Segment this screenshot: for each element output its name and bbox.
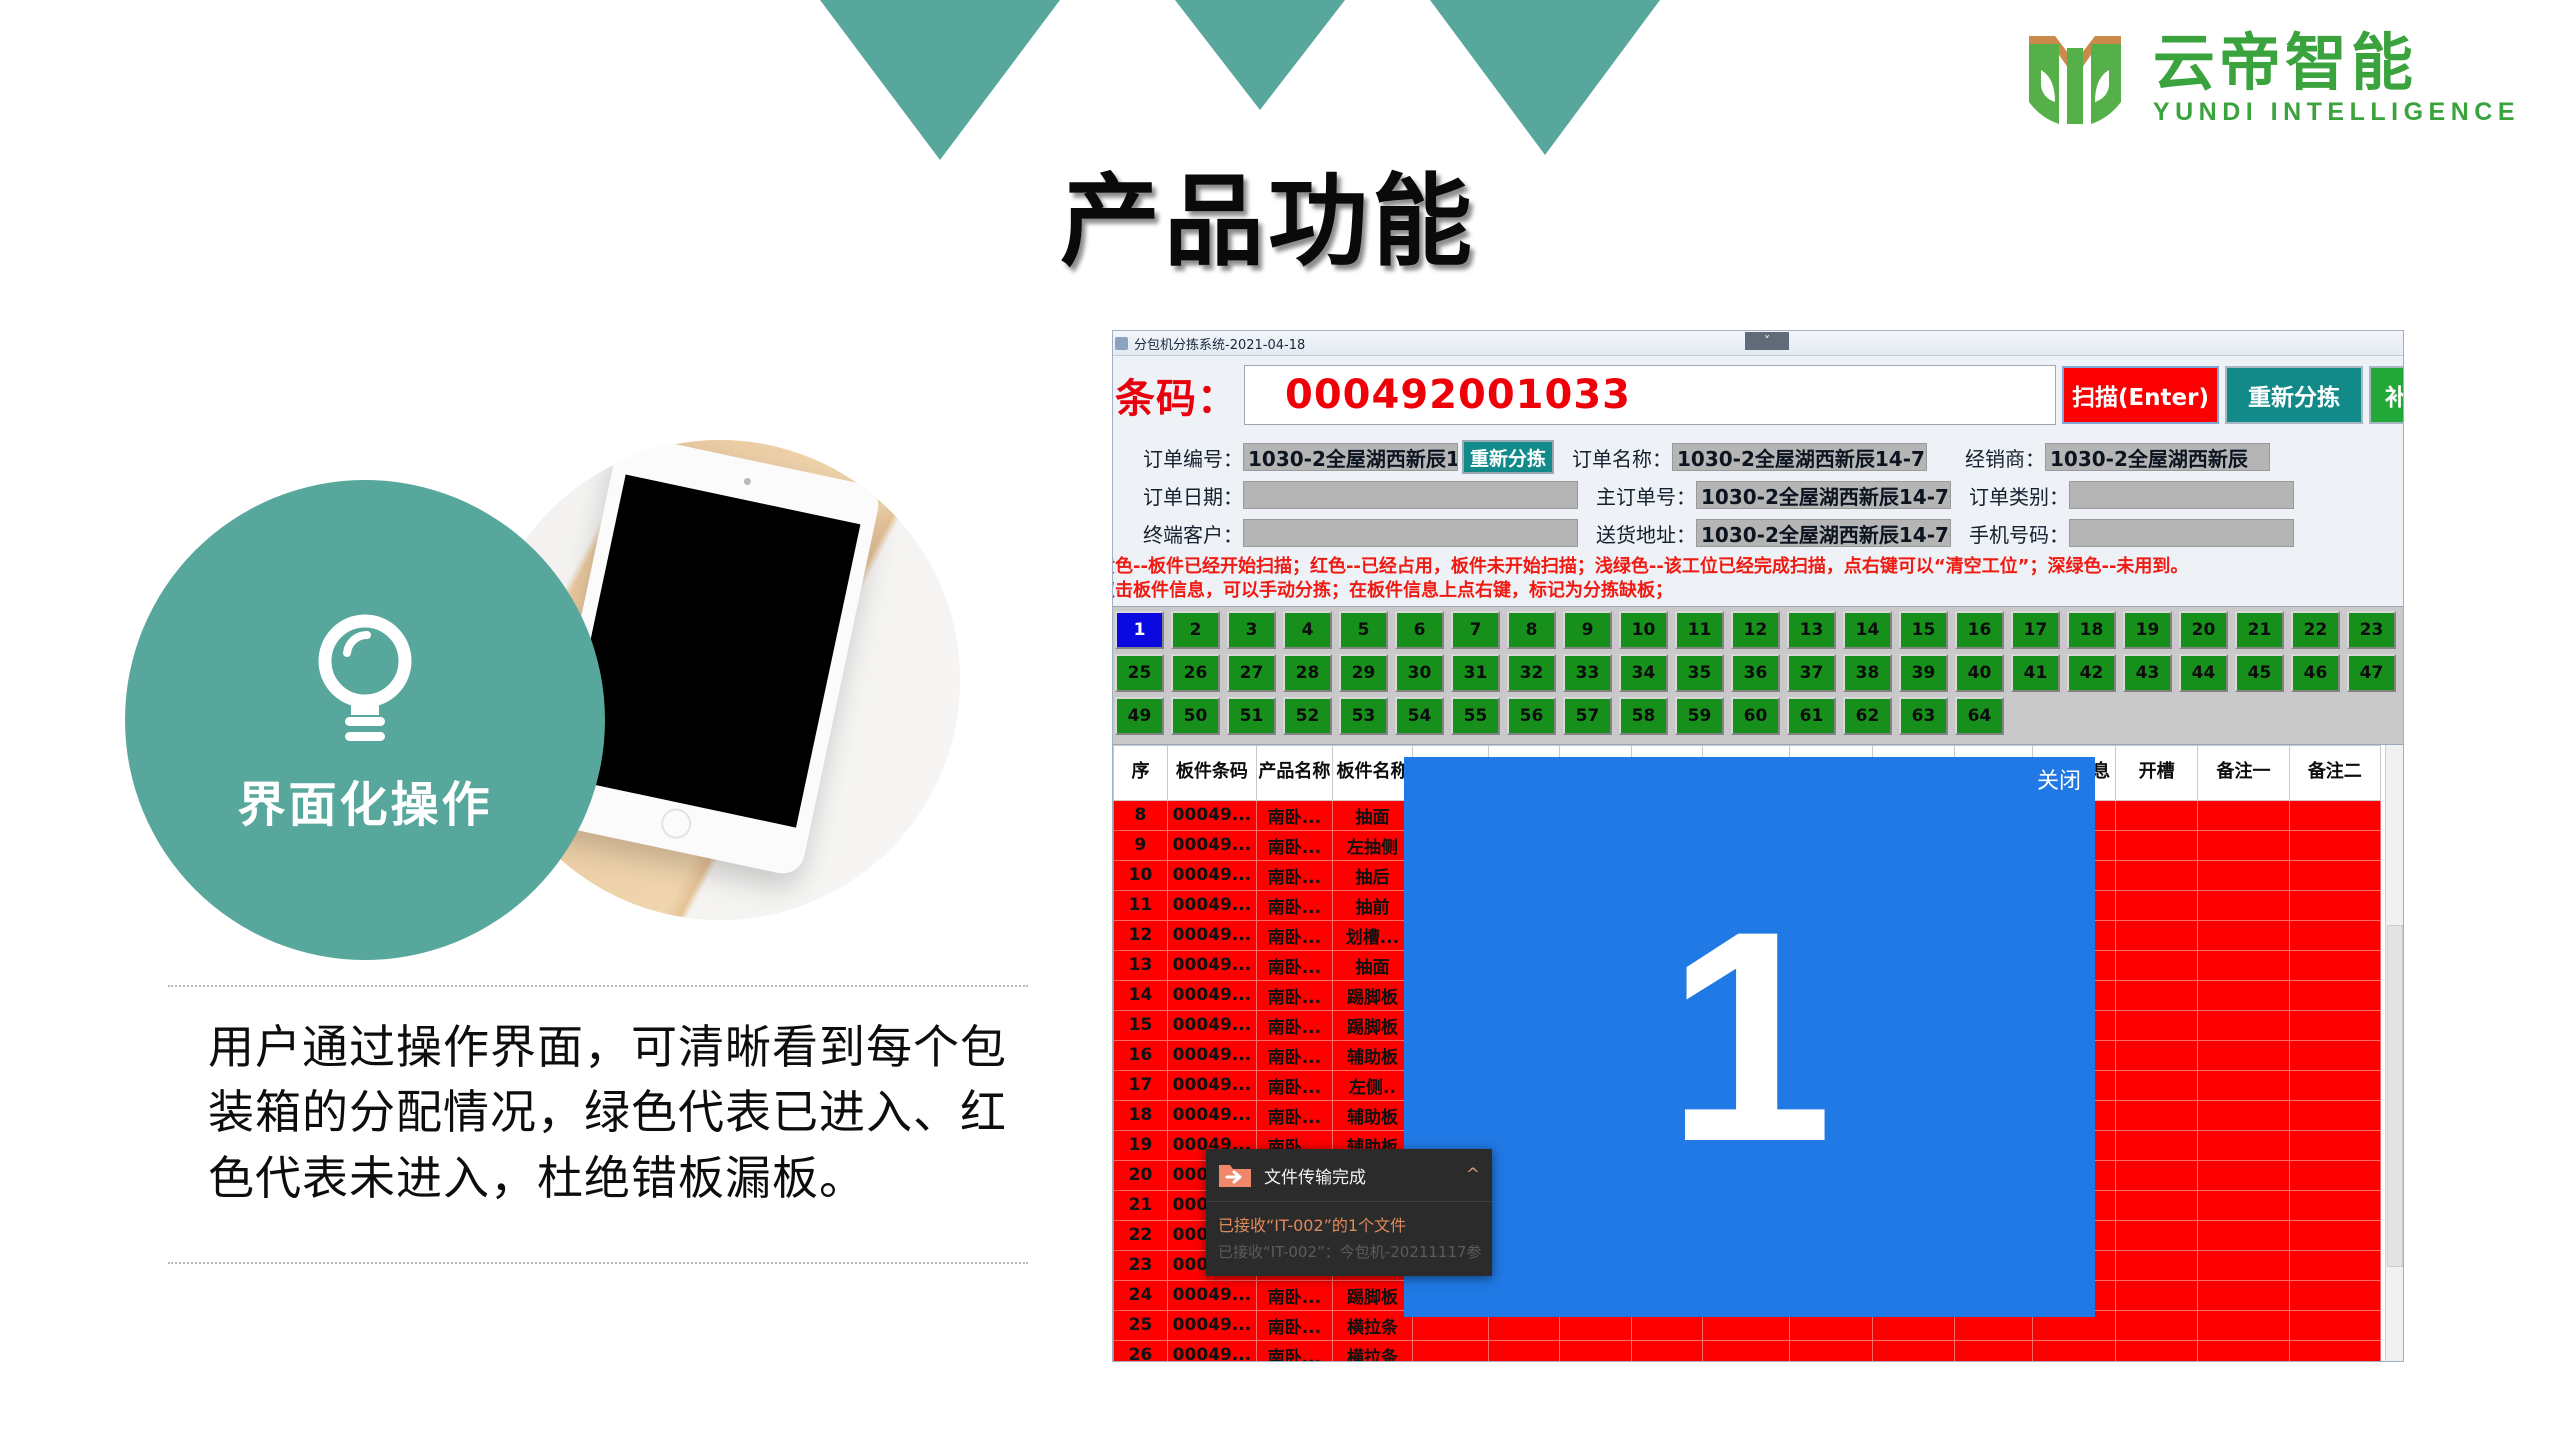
table-cell [2198, 1310, 2289, 1340]
station-cell-23[interactable]: 23 [2347, 611, 2396, 649]
station-cell-25[interactable]: 25 [1115, 654, 1164, 692]
station-cell-50[interactable]: 50 [1171, 697, 1220, 735]
station-cell-29[interactable]: 29 [1339, 654, 1388, 692]
station-cell-17[interactable]: 17 [2011, 611, 2060, 649]
table-cell: 26 [1114, 1340, 1168, 1362]
table-cell: 左抽侧 [1332, 830, 1412, 860]
divider-top [168, 985, 1028, 987]
table-cell [2115, 1250, 2197, 1280]
table-cell: 南卧... [1256, 860, 1332, 890]
phone-label: 手机号码： [1951, 519, 2069, 548]
divider-bottom [168, 1262, 1028, 1264]
table-cell [2289, 980, 2380, 1010]
phone-value[interactable] [2069, 519, 2294, 547]
table-cell [2198, 1340, 2289, 1362]
table-cell [1872, 1340, 1954, 1362]
table-cell [2115, 1010, 2197, 1040]
table-cell: 南卧... [1256, 1310, 1332, 1340]
station-cell-32[interactable]: 32 [1507, 654, 1556, 692]
table-header-1: 板件条码 [1167, 745, 1256, 800]
table-cell [1955, 1340, 2033, 1362]
table-cell: 25 [1114, 1310, 1168, 1340]
table-cell: 13 [1114, 950, 1168, 980]
form-row-3: 终端客户： 送货地址： 1030-2全屋湖西新辰14-701 手机号码： [1113, 514, 2403, 552]
table-cell: 抽面 [1332, 950, 1412, 980]
table-cell: 00049... [1167, 1040, 1256, 1070]
table-cell [2289, 1280, 2380, 1310]
table-cell: 11 [1114, 890, 1168, 920]
form-row-1: 订单编号： 1030-2全屋湖西新辰14-701 重新分拣 订单名称： 1030… [1113, 438, 2403, 476]
station-cell-61[interactable]: 61 [1787, 697, 1836, 735]
table-cell: 00049... [1167, 950, 1256, 980]
station-cell-40[interactable]: 40 [1955, 654, 2004, 692]
table-cell [2115, 1190, 2197, 1220]
toast-header: 文件传输完成 ^ [1206, 1149, 1492, 1202]
table-cell: 南卧... [1256, 1280, 1332, 1310]
form-row-2: 订单日期： 主订单号： 1030-2全屋湖西新辰14-701 订单类别： [1113, 476, 2403, 514]
station-cell-8[interactable]: 8 [1507, 611, 1556, 649]
station-row-2: 2526272829303132333435363738394041424344… [1113, 654, 2403, 692]
station-cell-22[interactable]: 22 [2291, 611, 2340, 649]
table-cell: 横拉条 [1332, 1310, 1412, 1340]
table-cell [2289, 950, 2380, 980]
lightbulb-icon [305, 605, 425, 755]
station-cell-46[interactable]: 46 [2291, 654, 2340, 692]
table-cell: 踢脚板 [1332, 1280, 1412, 1310]
table-cell: 00049... [1167, 1100, 1256, 1130]
end-customer-value[interactable] [1243, 519, 1578, 547]
barcode-label: 条码： [1115, 366, 1238, 424]
end-customer-label: 终端客户： [1113, 519, 1243, 548]
file-transfer-toast[interactable]: 文件传输完成 ^ 已接收“IT-002”的1个文件 已接收“IT-002”：今包… [1206, 1149, 1492, 1276]
table-cell [2289, 1310, 2380, 1340]
table-header-0: 序 [1114, 745, 1168, 800]
table-cell [2033, 1340, 2115, 1362]
table-cell: 18 [1114, 1100, 1168, 1130]
table-cell: 24 [1114, 1280, 1168, 1310]
table-cell: 抽面 [1332, 800, 1412, 830]
table-cell [1790, 1340, 1872, 1362]
order-name-label: 订单名称： [1554, 443, 1672, 472]
brand-name-cn: 云帝智能 [2153, 32, 2520, 94]
table-header-2: 产品名称 [1256, 745, 1332, 800]
station-cell-35[interactable]: 35 [1675, 654, 1724, 692]
station-cell-49[interactable]: 49 [1115, 697, 1164, 735]
table-cell [2289, 860, 2380, 890]
decor-triangle-3 [1430, 0, 1660, 155]
main-order-label: 主订单号： [1578, 481, 1696, 510]
table-cell [1631, 1340, 1702, 1362]
station-cell-21[interactable]: 21 [2235, 611, 2284, 649]
station-cell-44[interactable]: 44 [2179, 654, 2228, 692]
table-cell [2198, 950, 2289, 980]
tablet-screen [561, 475, 860, 828]
table-cell [2198, 830, 2289, 860]
tablet-camera-icon [743, 477, 751, 485]
table-header-13: 开槽 [2115, 745, 2197, 800]
table-cell [2289, 800, 2380, 830]
table-cell: 辅助板 [1332, 1040, 1412, 1070]
table-cell [2198, 1040, 2289, 1070]
barcode-input[interactable]: 000492001033 [1244, 365, 2056, 425]
table-cell [2198, 1220, 2289, 1250]
table-cell: 00049... [1167, 800, 1256, 830]
station-cell-28[interactable]: 28 [1283, 654, 1332, 692]
station-cell-36[interactable]: 36 [1731, 654, 1780, 692]
table-cell: 22 [1114, 1220, 1168, 1250]
station-cell-4[interactable]: 4 [1283, 611, 1332, 649]
station-cell-11[interactable]: 11 [1675, 611, 1724, 649]
table-cell [1413, 1340, 1489, 1362]
order-name-value[interactable]: 1030-2全屋湖西新辰14-701 [1672, 443, 1927, 471]
station-cell-39[interactable]: 39 [1899, 654, 1948, 692]
table-cell [2289, 920, 2380, 950]
window-caption-button[interactable]: ˅ [1745, 332, 1789, 350]
station-cell-52[interactable]: 52 [1283, 697, 1332, 735]
station-cell-16[interactable]: 16 [1955, 611, 2004, 649]
table-cell: 00049... [1167, 1340, 1256, 1362]
table-cell [2289, 830, 2380, 860]
station-row-1: 123456789101112131415161718192021222324 [1113, 611, 2403, 649]
table-cell [2115, 860, 2197, 890]
table-cell [2115, 1100, 2197, 1130]
station-cell-41[interactable]: 41 [2011, 654, 2060, 692]
address-value[interactable]: 1030-2全屋湖西新辰14-701 [1696, 519, 1951, 547]
table-cell [2289, 1220, 2380, 1250]
table-cell: 左侧.. [1332, 1070, 1412, 1100]
table-cell [2289, 1190, 2380, 1220]
table-cell [2198, 1070, 2289, 1100]
folder-transfer-icon [1218, 1161, 1252, 1189]
toast-line-2: 已接收“IT-002”：今包机-20211117参 [1218, 1241, 1480, 1262]
station-cell-5[interactable]: 5 [1339, 611, 1388, 649]
table-cell: 南卧... [1256, 1340, 1332, 1362]
table-cell: 南卧... [1256, 980, 1332, 1010]
station-cell-3[interactable]: 3 [1227, 611, 1276, 649]
table-cell [2115, 1070, 2197, 1100]
table-cell [2198, 1010, 2289, 1040]
station-number-overlay: 1 关闭 [1404, 757, 2095, 1317]
station-grid: 123456789101112131415161718192021222324 … [1113, 606, 2403, 744]
station-cell-45[interactable]: 45 [2235, 654, 2284, 692]
brand-logo: 云帝智能 YUNDI INTELLIGENCE [2015, 18, 2520, 138]
page-title: 产品功能 [1060, 140, 1476, 285]
table-cell [2198, 890, 2289, 920]
tablet-home-button-icon [658, 806, 694, 842]
station-cell-13[interactable]: 13 [1787, 611, 1836, 649]
table-cell [2289, 1340, 2380, 1362]
station-cell-55[interactable]: 55 [1451, 697, 1500, 735]
station-cell-43[interactable]: 43 [2123, 654, 2172, 692]
table-cell: 划槽... [1332, 920, 1412, 950]
feature-badge-label: 界面化操作 [237, 765, 492, 835]
table-cell: 00049... [1167, 920, 1256, 950]
table-cell [2115, 1310, 2197, 1340]
legend-hints: 黄色--板件已经开始扫描；红色--已经占用，板件未开始扫描；浅绿色--该工位已经… [1113, 552, 2403, 606]
table-cell [2115, 1220, 2197, 1250]
table-cell [2198, 1280, 2289, 1310]
barcode-bar: 条码： 000492001033 扫描(Enter) 重新分拣 补打 [1113, 356, 2403, 434]
table-cell [2115, 1130, 2197, 1160]
station-cell-51[interactable]: 51 [1227, 697, 1276, 735]
brand-name-en: YUNDI INTELLIGENCE [2153, 100, 2520, 125]
table-cell [2115, 830, 2197, 860]
scrollbar-thumb[interactable] [2387, 925, 2403, 1267]
table-cell [2198, 980, 2289, 1010]
table-cell [2198, 1250, 2289, 1280]
order-no-value[interactable]: 1030-2全屋湖西新辰14-701 [1243, 443, 1458, 471]
table-cell: 00049... [1167, 1070, 1256, 1100]
station-cell-7[interactable]: 7 [1451, 611, 1500, 649]
table-cell: 10 [1114, 860, 1168, 890]
feature-badge: 界面化操作 [125, 480, 605, 960]
table-cell [2115, 950, 2197, 980]
station-cell-58[interactable]: 58 [1619, 697, 1668, 735]
station-cell-38[interactable]: 38 [1843, 654, 1892, 692]
station-cell-2[interactable]: 2 [1171, 611, 1220, 649]
table-cell: 00049... [1167, 890, 1256, 920]
resort-button[interactable]: 重新分拣 [2225, 366, 2363, 424]
table-cell: 辅助板 [1332, 1100, 1412, 1130]
toast-body: 已接收“IT-002”的1个文件 已接收“IT-002”：今包机-2021111… [1206, 1202, 1492, 1276]
station-cell-57[interactable]: 57 [1563, 697, 1612, 735]
legend-hint-colors: 黄色--板件已经开始扫描；红色--已经占用，板件未开始扫描；浅绿色--该工位已经… [1112, 555, 2403, 579]
table-cell: 00049... [1167, 1310, 1256, 1340]
toast-title: 文件传输完成 [1264, 1163, 1454, 1188]
table-scrollbar[interactable] [2385, 745, 2403, 1362]
table-cell [2198, 1160, 2289, 1190]
table-cell [2115, 890, 2197, 920]
station-cell-18[interactable]: 18 [2067, 611, 2116, 649]
station-cell-56[interactable]: 56 [1507, 697, 1556, 735]
table-cell: 00049... [1167, 830, 1256, 860]
station-cell-24[interactable]: 24 [2403, 611, 2404, 649]
table-cell [2115, 1160, 2197, 1190]
resort-mini-button[interactable]: 重新分拣 [1462, 440, 1554, 474]
table-cell [1489, 1340, 1560, 1362]
table-cell: 踢脚板 [1332, 980, 1412, 1010]
table-cell: 南卧... [1256, 950, 1332, 980]
table-header-15: 备注二 [2289, 745, 2380, 800]
station-cell-31[interactable]: 31 [1451, 654, 1500, 692]
station-cell-15[interactable]: 15 [1899, 611, 1948, 649]
station-cell-14[interactable]: 14 [1843, 611, 1892, 649]
table-header-3: 板件名称 [1332, 745, 1412, 800]
station-cell-12[interactable]: 12 [1731, 611, 1780, 649]
station-cell-1[interactable]: 1 [1115, 611, 1164, 649]
table-cell [2289, 1040, 2380, 1070]
order-type-label: 订单类别： [1951, 481, 2069, 510]
table-cell [2115, 1340, 2197, 1362]
station-cell-62[interactable]: 62 [1843, 697, 1892, 735]
table-cell: 南卧... [1256, 1070, 1332, 1100]
station-cell-48[interactable]: 48 [2403, 654, 2404, 692]
chevron-up-icon[interactable]: ^ [1466, 1165, 1480, 1185]
table-cell [2289, 1070, 2380, 1100]
station-number: 1 [1666, 909, 1833, 1164]
feature-description: 用户通过操作界面，可清晰看到每个包装箱的分配情况，绿色代表已进入、红色代表未进入… [208, 1015, 1048, 1211]
table-cell: 17 [1114, 1070, 1168, 1100]
table-cell [2198, 920, 2289, 950]
table-header-14: 备注一 [2198, 745, 2289, 800]
reprint-button[interactable]: 补打 [2369, 366, 2404, 424]
station-cell-30[interactable]: 30 [1395, 654, 1444, 692]
dealer-label: 经销商： [1927, 443, 2045, 472]
station-cell-54[interactable]: 54 [1395, 697, 1444, 735]
station-cell-34[interactable]: 34 [1619, 654, 1668, 692]
table-cell: 抽后 [1332, 860, 1412, 890]
table-cell: 16 [1114, 1040, 1168, 1070]
table-cell: 00049... [1167, 1010, 1256, 1040]
station-cell-47[interactable]: 47 [2347, 654, 2396, 692]
station-cell-60[interactable]: 60 [1731, 697, 1780, 735]
table-cell [2198, 860, 2289, 890]
table-cell [2289, 1160, 2380, 1190]
main-order-value[interactable]: 1030-2全屋湖西新辰14-701 [1696, 481, 1951, 509]
decor-triangle-2 [1175, 0, 1345, 110]
table-cell [2115, 800, 2197, 830]
table-cell: 15 [1114, 1010, 1168, 1040]
table-cell: 23 [1114, 1250, 1168, 1280]
yundi-logo-icon [2015, 18, 2135, 138]
overlay-close-link[interactable]: 关闭 [2037, 763, 2081, 795]
table-row[interactable]: 2600049...南卧...横拉条 [1114, 1340, 2381, 1362]
table-cell: 00049... [1167, 980, 1256, 1010]
table-cell [2115, 1040, 2197, 1070]
table-cell: 14 [1114, 980, 1168, 1010]
table-cell [2115, 1280, 2197, 1310]
station-cell-27[interactable]: 27 [1227, 654, 1276, 692]
station-cell-19[interactable]: 19 [2123, 611, 2172, 649]
table-cell: 南卧... [1256, 890, 1332, 920]
order-date-value[interactable] [1243, 481, 1578, 509]
table-cell [2115, 920, 2197, 950]
station-cell-26[interactable]: 26 [1171, 654, 1220, 692]
table-cell [2289, 890, 2380, 920]
table-cell: 8 [1114, 800, 1168, 830]
table-cell: 踢脚板 [1332, 1010, 1412, 1040]
table-cell: 南卧... [1256, 1100, 1332, 1130]
station-cell-20[interactable]: 20 [2179, 611, 2228, 649]
table-cell: 20 [1114, 1160, 1168, 1190]
station-row-3: 49505152535455565758596061626364 [1113, 697, 2403, 735]
legend-hint-actions: 双击板件信息，可以手动分拣；在板件信息上点右键，标记为分拣缺板； [1112, 579, 2403, 603]
order-no-label: 订单编号： [1113, 443, 1243, 472]
table-cell: 横拉条 [1332, 1340, 1412, 1362]
table-cell: 00049... [1167, 860, 1256, 890]
window-title: 分包机分拣系统-2021-04-18 [1134, 334, 1305, 353]
table-cell [2198, 1100, 2289, 1130]
table-cell [2198, 1190, 2289, 1220]
table-cell [2198, 800, 2289, 830]
address-label: 送货地址： [1578, 519, 1696, 548]
table-cell: 9 [1114, 830, 1168, 860]
table-cell [2289, 1250, 2380, 1280]
station-cell-42[interactable]: 42 [2067, 654, 2116, 692]
decor-triangle-1 [820, 0, 1060, 160]
table-cell: 南卧... [1256, 830, 1332, 860]
station-cell-59[interactable]: 59 [1675, 697, 1724, 735]
dealer-value[interactable]: 1030-2全屋湖西新辰 [2045, 443, 2270, 471]
table-cell: 19 [1114, 1130, 1168, 1160]
scan-button[interactable]: 扫描(Enter) [2062, 366, 2219, 424]
order-date-label: 订单日期： [1113, 481, 1243, 510]
table-cell [2198, 1130, 2289, 1160]
table-cell: 南卧... [1256, 920, 1332, 950]
table-cell: 南卧... [1256, 800, 1332, 830]
station-cell-9[interactable]: 9 [1563, 611, 1612, 649]
table-cell [2289, 1130, 2380, 1160]
order-form: 订单编号： 1030-2全屋湖西新辰14-701 重新分拣 订单名称： 1030… [1113, 434, 2403, 552]
window-titlebar: 分包机分拣系统-2021-04-18 ˅ [1113, 331, 2403, 356]
table-cell: 00049... [1167, 1280, 1256, 1310]
table-cell: 南卧... [1256, 1010, 1332, 1040]
station-cell-10[interactable]: 10 [1619, 611, 1668, 649]
table-cell: 21 [1114, 1190, 1168, 1220]
station-cell-37[interactable]: 37 [1787, 654, 1836, 692]
order-type-value[interactable] [2069, 481, 2294, 509]
toast-line-1: 已接收“IT-002”的1个文件 [1218, 1212, 1480, 1236]
table-cell [2289, 1010, 2380, 1040]
station-cell-33[interactable]: 33 [1563, 654, 1612, 692]
table-cell [2115, 980, 2197, 1010]
station-cell-53[interactable]: 53 [1339, 697, 1388, 735]
station-cell-63[interactable]: 63 [1899, 697, 1948, 735]
table-cell [1560, 1340, 1631, 1362]
table-cell: 南卧... [1256, 1040, 1332, 1070]
table-cell [1703, 1340, 1790, 1362]
station-cell-64[interactable]: 64 [1955, 697, 2004, 735]
app-icon [1115, 337, 1128, 350]
table-cell: 12 [1114, 920, 1168, 950]
table-cell [2289, 1100, 2380, 1130]
table-cell: 抽前 [1332, 890, 1412, 920]
station-cell-6[interactable]: 6 [1395, 611, 1444, 649]
